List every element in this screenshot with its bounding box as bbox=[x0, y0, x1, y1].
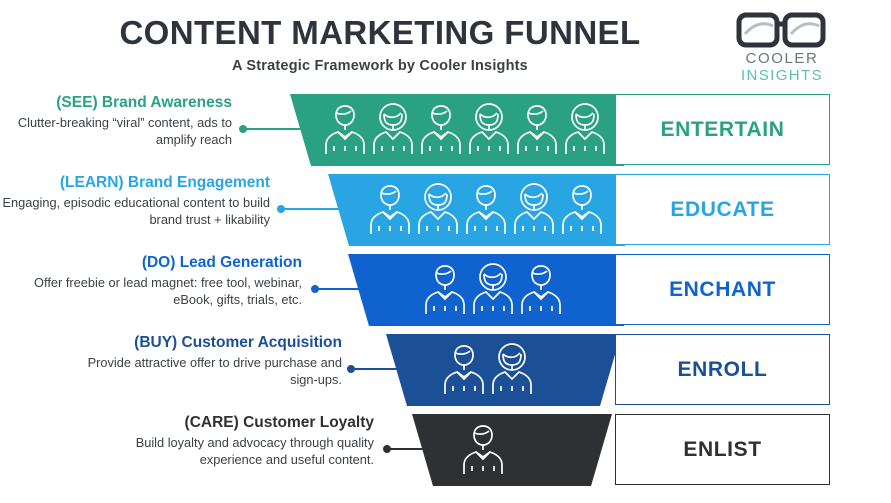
tier-3-action-box[interactable]: ENCHANT bbox=[615, 254, 830, 325]
tier-4-action-box[interactable]: ENROLL bbox=[615, 334, 830, 405]
tier-5-stage: (CARE) Customer Loyalty bbox=[90, 414, 374, 432]
funnel-tier-2: (LEARN) Brand Engagement Engaging, episo… bbox=[0, 170, 891, 250]
tier-3-shape bbox=[348, 254, 645, 326]
tier-4-action-label: ENROLL bbox=[678, 358, 768, 382]
glasses-icon bbox=[727, 10, 837, 50]
tier-3-text: (DO) Lead Generation Offer freebie or le… bbox=[30, 254, 302, 308]
funnel-tier-1: (SEE) Brand Awareness Clutter-breaking “… bbox=[0, 90, 891, 170]
tier-2-action-label: EDUCATE bbox=[670, 198, 774, 222]
tier-5-text: (CARE) Customer Loyalty Build loyalty an… bbox=[90, 414, 374, 468]
tier-3-stage: (DO) Lead Generation bbox=[30, 254, 302, 272]
tier-4-stage: (BUY) Customer Acquisition bbox=[60, 334, 342, 352]
page-title: CONTENT MARKETING FUNNEL bbox=[0, 14, 760, 52]
tier-4-shape bbox=[386, 334, 621, 406]
tier-5-action-label: ENLIST bbox=[683, 438, 761, 462]
tier-2-description: Engaging, episodic educational content t… bbox=[0, 195, 270, 228]
page-subtitle: A Strategic Framework by Cooler Insights bbox=[0, 58, 760, 74]
tier-3-action-label: ENCHANT bbox=[669, 278, 776, 302]
tier-2-shape bbox=[328, 174, 646, 246]
funnel-tier-5: (CARE) Customer Loyalty Build loyalty an… bbox=[0, 410, 891, 490]
logo-word-cooler: COOLER bbox=[727, 50, 837, 67]
tier-3-description: Offer freebie or lead magnet: free tool,… bbox=[30, 275, 302, 308]
tier-1-stage: (SEE) Brand Awareness bbox=[0, 94, 232, 112]
tier-5-shape bbox=[412, 414, 612, 486]
tier-4-description: Provide attractive offer to drive purcha… bbox=[60, 355, 342, 388]
tier-2-stage: (LEARN) Brand Engagement bbox=[0, 174, 270, 192]
connector-dot-icon bbox=[383, 445, 391, 453]
connector-dot-icon bbox=[239, 125, 247, 133]
tier-5-description: Build loyalty and advocacy through quali… bbox=[90, 435, 374, 468]
funnel-tier-3: (DO) Lead Generation Offer freebie or le… bbox=[0, 250, 891, 330]
tier-1-shape bbox=[290, 94, 645, 166]
connector-dot-icon bbox=[311, 285, 319, 293]
brand-logo: COOLER INSIGHTS bbox=[727, 10, 837, 86]
tier-2-text: (LEARN) Brand Engagement Engaging, episo… bbox=[0, 174, 270, 228]
logo-word-insights: INSIGHTS bbox=[727, 67, 837, 84]
tier-2-action-box[interactable]: EDUCATE bbox=[615, 174, 830, 245]
connector-dot-icon bbox=[277, 205, 285, 213]
tier-1-action-box[interactable]: ENTERTAIN bbox=[615, 94, 830, 165]
infographic-canvas: CONTENT MARKETING FUNNEL A Strategic Fra… bbox=[0, 0, 891, 503]
tier-1-text: (SEE) Brand Awareness Clutter-breaking “… bbox=[0, 94, 232, 148]
tier-1-action-label: ENTERTAIN bbox=[660, 118, 784, 142]
connector-dot-icon bbox=[347, 365, 355, 373]
funnel-tier-4: (BUY) Customer Acquisition Provide attra… bbox=[0, 330, 891, 410]
tier-4-text: (BUY) Customer Acquisition Provide attra… bbox=[60, 334, 342, 388]
tier-5-action-box[interactable]: ENLIST bbox=[615, 414, 830, 485]
tier-1-description: Clutter-breaking “viral” content, ads to… bbox=[0, 115, 232, 148]
